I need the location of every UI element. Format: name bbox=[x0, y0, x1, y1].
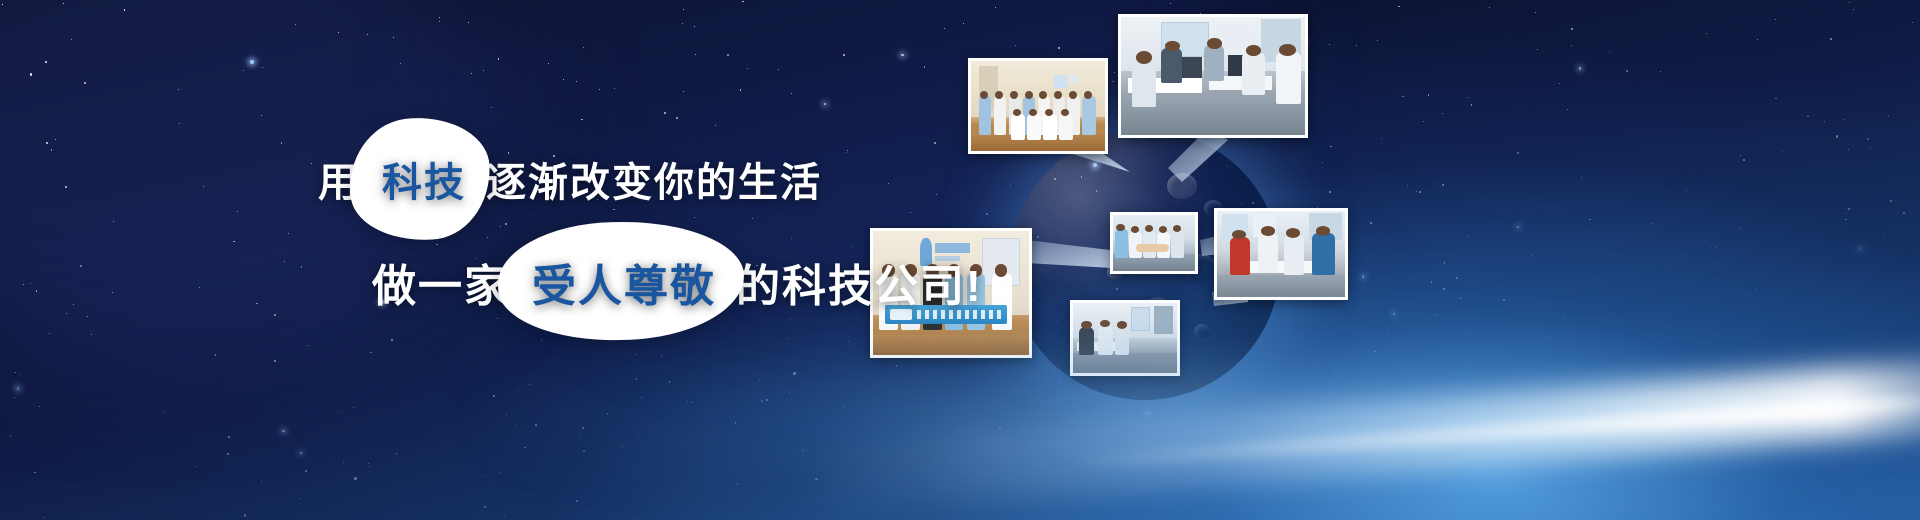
star bbox=[735, 422, 737, 424]
star bbox=[274, 360, 276, 362]
star bbox=[1807, 116, 1809, 118]
star bbox=[17, 387, 20, 390]
star bbox=[1116, 428, 1117, 429]
light-streak-core bbox=[1062, 392, 1920, 471]
star bbox=[740, 89, 742, 91]
star bbox=[1537, 49, 1538, 50]
star bbox=[761, 400, 763, 402]
star bbox=[15, 372, 16, 373]
headline-line2-suffix: 的科技公司 bbox=[736, 250, 966, 314]
star bbox=[391, 339, 393, 341]
star bbox=[215, 354, 217, 356]
star bbox=[563, 79, 564, 80]
star bbox=[244, 514, 247, 517]
photo-office-desks[interactable] bbox=[1118, 14, 1308, 138]
star bbox=[1381, 138, 1382, 139]
star bbox=[846, 152, 847, 153]
star bbox=[1743, 159, 1745, 161]
star bbox=[944, 28, 945, 29]
star bbox=[934, 142, 936, 144]
hero-banner: 用科技逐渐改变你的生活 做一家受人尊敬的科技公司! bbox=[0, 0, 1920, 520]
star bbox=[393, 37, 395, 39]
star bbox=[487, 237, 488, 238]
star bbox=[1442, 113, 1443, 114]
star bbox=[1387, 333, 1388, 334]
star bbox=[582, 427, 584, 429]
star bbox=[599, 89, 601, 91]
star bbox=[1859, 247, 1862, 250]
star bbox=[1884, 237, 1885, 238]
star bbox=[1423, 121, 1424, 122]
star bbox=[1660, 71, 1661, 72]
headline-line2-emphasis: 受人尊敬 bbox=[514, 248, 732, 316]
star bbox=[87, 316, 88, 317]
star bbox=[848, 341, 849, 342]
star bbox=[1416, 191, 1417, 192]
star bbox=[500, 226, 501, 227]
star bbox=[1460, 297, 1462, 299]
star bbox=[683, 91, 684, 92]
star bbox=[715, 125, 716, 126]
light-streak bbox=[801, 358, 1920, 514]
star bbox=[73, 304, 74, 305]
star bbox=[778, 69, 779, 70]
horizon-glow bbox=[0, 330, 1920, 520]
star bbox=[691, 402, 693, 404]
star bbox=[802, 450, 804, 452]
star bbox=[482, 476, 483, 477]
star bbox=[1716, 247, 1717, 248]
star bbox=[1402, 96, 1404, 98]
star bbox=[55, 139, 56, 140]
star bbox=[179, 123, 180, 124]
star bbox=[30, 73, 33, 76]
star bbox=[1609, 52, 1610, 53]
star bbox=[1015, 45, 1016, 46]
star bbox=[694, 26, 696, 28]
star bbox=[529, 384, 530, 385]
star bbox=[677, 435, 678, 436]
star bbox=[1114, 72, 1115, 73]
star bbox=[497, 318, 498, 319]
star bbox=[10, 435, 11, 436]
star bbox=[227, 453, 229, 455]
star-bright bbox=[250, 60, 254, 64]
star bbox=[548, 63, 549, 64]
star bbox=[576, 81, 577, 82]
star bbox=[282, 430, 285, 433]
star bbox=[436, 244, 438, 246]
star bbox=[354, 477, 357, 480]
star bbox=[45, 61, 47, 63]
star bbox=[541, 340, 542, 341]
headline-line-2: 做一家受人尊敬的科技公司! bbox=[372, 248, 983, 316]
star bbox=[1739, 228, 1740, 229]
photo-team-hands[interactable] bbox=[1110, 212, 1198, 274]
star bbox=[1775, 98, 1777, 100]
star bbox=[1706, 33, 1707, 34]
star bbox=[999, 427, 1001, 429]
star bbox=[661, 355, 662, 356]
star bbox=[962, 453, 963, 454]
star bbox=[295, 24, 296, 25]
star bbox=[791, 93, 792, 94]
star bbox=[1435, 314, 1437, 316]
star bbox=[936, 194, 937, 195]
star bbox=[1362, 275, 1365, 278]
star bbox=[883, 444, 884, 445]
star bbox=[1845, 219, 1847, 221]
star bbox=[815, 478, 818, 481]
star bbox=[676, 117, 679, 120]
photo-meeting-desk[interactable] bbox=[1214, 208, 1348, 300]
star bbox=[500, 472, 502, 474]
star bbox=[669, 381, 671, 383]
star bbox=[1489, 7, 1490, 8]
star bbox=[737, 483, 739, 485]
star bbox=[792, 435, 793, 436]
star bbox=[695, 54, 696, 55]
star bbox=[228, 436, 230, 438]
star bbox=[636, 354, 637, 355]
star bbox=[498, 58, 500, 60]
star bbox=[30, 283, 31, 284]
star bbox=[787, 338, 788, 339]
star bbox=[91, 334, 92, 335]
star bbox=[636, 378, 638, 380]
star bbox=[677, 488, 678, 489]
star bbox=[1058, 47, 1060, 49]
star bbox=[66, 313, 67, 314]
star bbox=[23, 284, 24, 285]
star bbox=[718, 319, 719, 320]
star bbox=[199, 287, 200, 288]
star bbox=[576, 500, 578, 502]
star bbox=[682, 23, 683, 24]
star bbox=[505, 223, 507, 225]
star bbox=[1912, 22, 1913, 23]
star bbox=[338, 32, 339, 33]
star bbox=[367, 34, 368, 35]
star bbox=[1468, 236, 1469, 237]
star bbox=[1431, 281, 1433, 283]
star bbox=[1717, 261, 1718, 262]
star bbox=[607, 413, 609, 415]
star bbox=[1782, 151, 1783, 152]
star bbox=[1407, 185, 1408, 186]
star bbox=[1853, 9, 1854, 10]
star bbox=[1356, 45, 1357, 46]
star bbox=[341, 411, 342, 412]
star bbox=[583, 47, 584, 48]
star bbox=[1467, 97, 1468, 98]
star bbox=[164, 412, 165, 413]
star bbox=[793, 372, 796, 375]
star bbox=[843, 54, 845, 56]
star bbox=[1456, 277, 1458, 279]
star bbox=[694, 217, 695, 218]
star bbox=[65, 186, 67, 188]
star bbox=[1903, 212, 1905, 214]
star bbox=[1146, 412, 1149, 415]
star bbox=[824, 103, 827, 106]
star bbox=[46, 142, 48, 144]
star bbox=[1848, 208, 1850, 210]
star bbox=[288, 233, 289, 234]
star bbox=[468, 22, 469, 23]
star bbox=[1177, 408, 1178, 409]
star bbox=[1870, 147, 1871, 148]
star bbox=[256, 303, 258, 305]
star bbox=[901, 54, 904, 57]
star bbox=[1531, 255, 1532, 256]
star bbox=[1329, 44, 1330, 45]
star bbox=[1170, 3, 1171, 4]
star bbox=[1754, 277, 1755, 278]
star bbox=[243, 70, 244, 71]
star bbox=[910, 212, 911, 213]
star bbox=[1517, 152, 1519, 154]
star bbox=[299, 498, 300, 499]
headline-line2-exclamation: ! bbox=[966, 262, 983, 312]
star bbox=[237, 211, 238, 212]
star bbox=[51, 149, 53, 151]
star bbox=[1775, 19, 1776, 20]
star bbox=[262, 67, 263, 68]
star bbox=[203, 186, 204, 187]
star bbox=[20, 374, 21, 375]
star bbox=[1843, 119, 1844, 120]
star bbox=[178, 89, 179, 90]
star bbox=[34, 472, 36, 474]
star bbox=[308, 345, 309, 346]
star bbox=[281, 142, 283, 144]
star bbox=[63, 3, 64, 4]
photo-team-group[interactable] bbox=[968, 58, 1108, 154]
star bbox=[400, 63, 401, 64]
star bbox=[1329, 191, 1331, 193]
star bbox=[759, 380, 760, 381]
star bbox=[112, 292, 113, 293]
star bbox=[995, 7, 996, 8]
star bbox=[261, 481, 262, 482]
star bbox=[1571, 28, 1573, 30]
star bbox=[369, 466, 370, 467]
star bbox=[1846, 213, 1847, 214]
star bbox=[1757, 39, 1758, 40]
star bbox=[233, 241, 235, 243]
star bbox=[1434, 323, 1435, 324]
star bbox=[1442, 184, 1444, 186]
star bbox=[84, 82, 86, 84]
star bbox=[790, 318, 791, 319]
star bbox=[742, 1, 744, 3]
star bbox=[683, 9, 684, 10]
star bbox=[687, 401, 688, 402]
star bbox=[1830, 38, 1832, 40]
star bbox=[396, 453, 398, 455]
star bbox=[80, 265, 82, 267]
star bbox=[1579, 67, 1582, 70]
star bbox=[579, 434, 580, 435]
star bbox=[517, 390, 518, 391]
star bbox=[1503, 299, 1505, 301]
star bbox=[1443, 288, 1445, 290]
headline-line1-emphasis: 科技 bbox=[364, 148, 482, 210]
star bbox=[439, 21, 440, 22]
star bbox=[1669, 266, 1670, 267]
star bbox=[1836, 135, 1839, 138]
star bbox=[274, 314, 276, 316]
star bbox=[484, 506, 486, 508]
photo-lab-room[interactable] bbox=[1070, 300, 1180, 376]
star bbox=[986, 213, 989, 216]
star bbox=[516, 425, 517, 426]
star bbox=[1749, 293, 1750, 294]
star bbox=[1335, 371, 1336, 372]
star bbox=[71, 39, 72, 40]
star bbox=[752, 218, 753, 219]
star bbox=[1370, 222, 1372, 224]
star bbox=[491, 107, 492, 108]
star bbox=[1428, 94, 1430, 96]
star bbox=[535, 424, 537, 426]
star bbox=[1322, 162, 1323, 163]
star bbox=[504, 516, 505, 517]
star bbox=[1714, 278, 1715, 279]
star bbox=[301, 266, 303, 268]
star bbox=[261, 115, 262, 116]
headline-line1-suffix: 逐渐改变你的生活 bbox=[486, 150, 822, 208]
star bbox=[124, 9, 126, 11]
star bbox=[196, 466, 197, 467]
star bbox=[1471, 104, 1473, 106]
star bbox=[1849, 2, 1850, 3]
star bbox=[14, 397, 15, 398]
star bbox=[843, 407, 844, 408]
star bbox=[370, 352, 372, 354]
star bbox=[621, 446, 622, 447]
star bbox=[641, 397, 642, 398]
star bbox=[1848, 149, 1849, 150]
star bbox=[1686, 190, 1687, 191]
star bbox=[1398, 6, 1400, 8]
star bbox=[1313, 362, 1314, 363]
star bbox=[1824, 121, 1825, 122]
star bbox=[1626, 70, 1628, 72]
star bbox=[1867, 138, 1869, 140]
star bbox=[791, 238, 792, 239]
star bbox=[1567, 109, 1568, 110]
star bbox=[1563, 319, 1564, 320]
star bbox=[896, 365, 898, 367]
star bbox=[1740, 155, 1741, 156]
star bbox=[747, 68, 748, 69]
star bbox=[36, 290, 38, 292]
star bbox=[1393, 313, 1396, 316]
star bbox=[614, 88, 616, 90]
star bbox=[506, 414, 507, 415]
star bbox=[1594, 226, 1595, 227]
star bbox=[39, 406, 40, 407]
star bbox=[305, 470, 307, 472]
star bbox=[300, 452, 303, 455]
star bbox=[847, 150, 848, 151]
star bbox=[1444, 262, 1446, 264]
star bbox=[581, 119, 583, 121]
star bbox=[311, 163, 312, 164]
star bbox=[1890, 200, 1892, 202]
star bbox=[368, 463, 369, 464]
star bbox=[343, 462, 344, 463]
star bbox=[1559, 83, 1560, 84]
star bbox=[1419, 191, 1421, 193]
star bbox=[1112, 81, 1114, 83]
star bbox=[664, 112, 666, 114]
star bbox=[471, 73, 472, 74]
star bbox=[1651, 223, 1652, 224]
star bbox=[439, 17, 440, 18]
star bbox=[284, 261, 285, 262]
star bbox=[963, 23, 964, 24]
star bbox=[727, 54, 729, 56]
star bbox=[1535, 12, 1536, 13]
star bbox=[1705, 240, 1706, 241]
star bbox=[888, 183, 889, 184]
star bbox=[1571, 45, 1572, 46]
star bbox=[483, 70, 484, 71]
star bbox=[766, 399, 768, 401]
star bbox=[583, 450, 585, 452]
star bbox=[1517, 226, 1520, 229]
star bbox=[2, 4, 3, 5]
star bbox=[524, 447, 526, 449]
star bbox=[1756, 288, 1757, 289]
star bbox=[113, 221, 114, 222]
star bbox=[1377, 40, 1378, 41]
star bbox=[1581, 177, 1582, 178]
star bbox=[49, 333, 50, 334]
star bbox=[924, 66, 926, 68]
headline-line-1: 用科技逐渐改变你的生活 bbox=[318, 148, 822, 210]
headline-line2-prefix: 做一家 bbox=[372, 250, 510, 314]
star bbox=[637, 437, 638, 438]
star bbox=[493, 395, 495, 397]
star bbox=[353, 407, 354, 408]
star bbox=[1041, 444, 1042, 445]
star bbox=[1374, 351, 1376, 353]
star bbox=[43, 517, 44, 518]
star bbox=[789, 392, 790, 393]
star bbox=[1888, 115, 1889, 116]
star bbox=[1589, 219, 1591, 221]
star bbox=[1330, 146, 1332, 148]
